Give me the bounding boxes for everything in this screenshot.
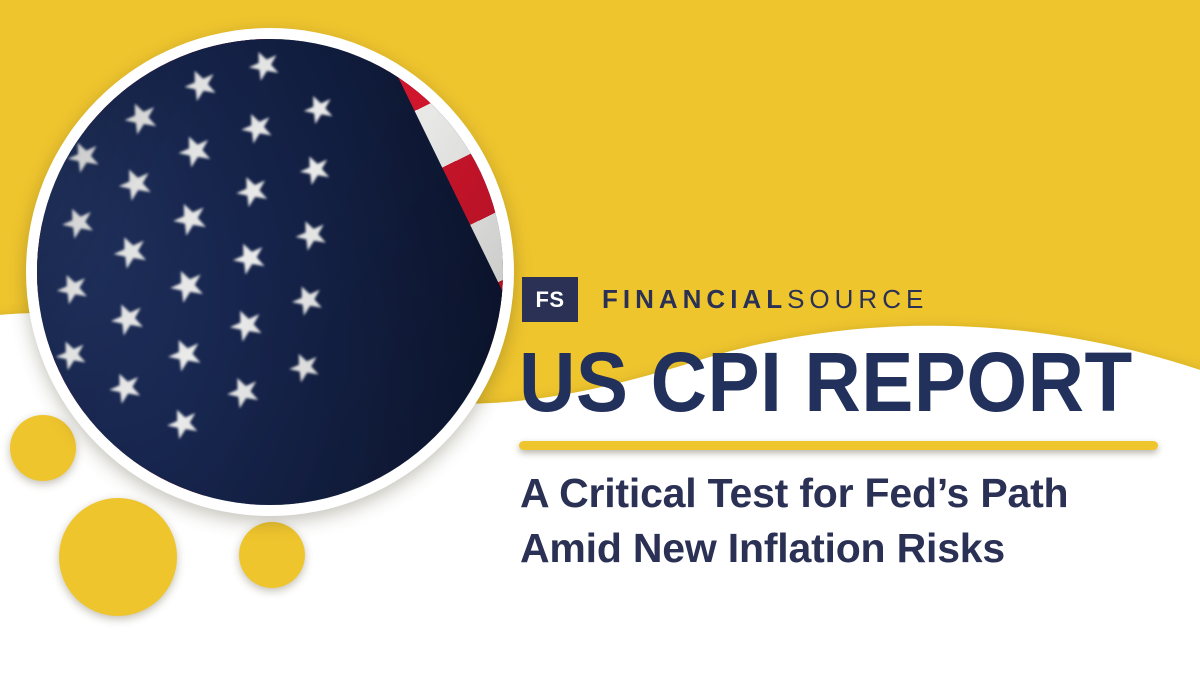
flag-fabric-shading [37,39,503,505]
page-subtitle-line-1: A Critical Test for Fed’s Path [520,466,1068,521]
title-underline-rule [519,441,1158,450]
banner-content: FS FINANCIALSOURCE US CPI REPORT A Criti… [519,0,1179,675]
fs-monogram-icon: FS [522,277,578,322]
accent-circle-large [59,498,177,616]
brand-word-financial: FINANCIAL [602,284,787,314]
page-subtitle-line-2: Amid New Inflation Risks [520,521,1068,576]
page-subtitle: A Critical Test for Fed’s Path Amid New … [520,466,1068,576]
brand-word-source: SOURCE [787,284,928,314]
page-title: US CPI REPORT [519,340,1133,424]
cpi-report-banner: FS FINANCIALSOURCE US CPI REPORT A Criti… [0,0,1200,675]
us-flag-circle-image [26,28,514,516]
financial-source-logo: FS FINANCIALSOURCE [522,277,928,322]
brand-wordmark: FINANCIALSOURCE [602,284,928,315]
accent-circle-small-right [239,522,305,588]
us-flag-photo [37,39,503,505]
